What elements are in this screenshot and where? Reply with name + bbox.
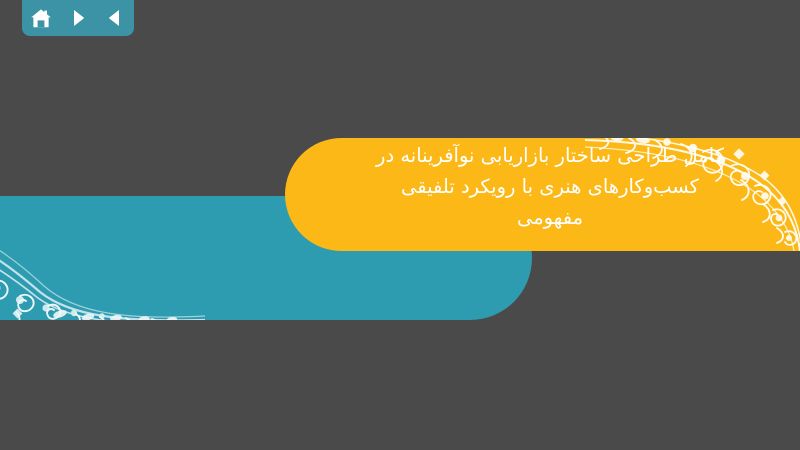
arabesque-ornament-icon (585, 138, 800, 251)
arabesque-ornament-icon (0, 196, 205, 320)
navigation-toolbar (22, 0, 134, 36)
orange-ornament-clip (285, 138, 800, 251)
slide-canvas: کامل طراحی ساختار بازاریابی نوآفرینانه د… (0, 0, 800, 450)
home-icon (30, 8, 52, 29)
triangle-right-icon (68, 8, 88, 28)
back-button[interactable] (101, 5, 129, 31)
forward-button[interactable] (64, 5, 92, 31)
orange-title-band (285, 138, 800, 251)
home-button[interactable] (27, 5, 55, 31)
triangle-left-icon (105, 8, 125, 28)
